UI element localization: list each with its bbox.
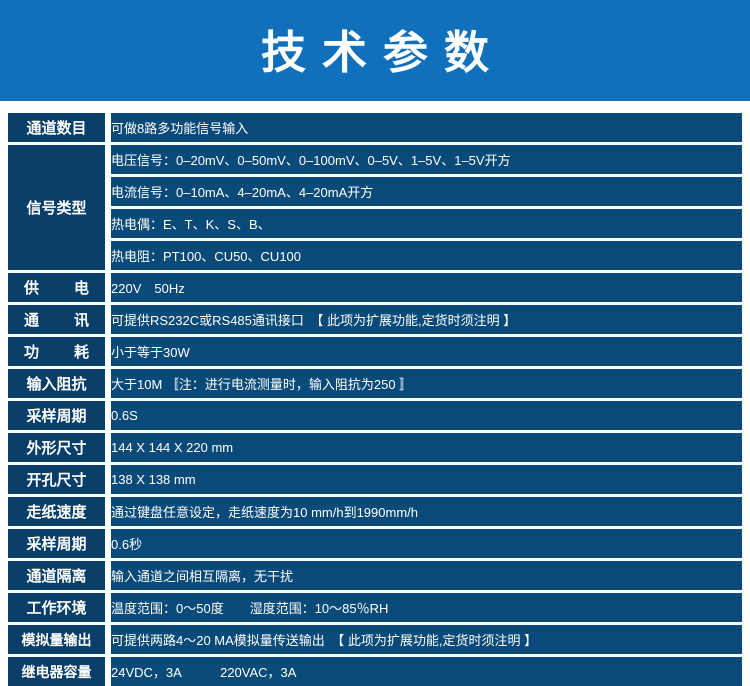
row-label-communication-text: 通 讯 — [8, 309, 105, 330]
row-value-signal-rtd: 热电阻：PT100、CU50、CU100 — [111, 241, 742, 273]
page-banner: 技术参数 — [0, 0, 750, 101]
row-value-relay-capacity: 24VDC，3A 220VAC，3A — [111, 657, 742, 686]
row-label-relay-capacity: 继电器容量 — [8, 657, 111, 686]
row-value-outline-dimension: 144 X 144 X 220 mm — [111, 433, 742, 465]
row-value-signal-voltage: 电压信号：0–20mV、0–50mV、0–100mV、0–5V、1–5V、1–5… — [111, 145, 742, 177]
row-value-signal-thermocouple: 热电偶：E、T、K、S、B、 — [111, 209, 742, 241]
row-value-sampling-period-2: 0.6秒 — [111, 529, 742, 561]
row-label-outline-dimension: 外形尺寸 — [8, 433, 111, 465]
page-title: 技术参数 — [245, 26, 505, 75]
row-label-power-supply: 供 电 — [8, 273, 111, 305]
row-label-working-environment: 工作环境 — [8, 593, 111, 625]
table-row: 通道数目 可做8路多功能信号输入 — [8, 113, 742, 145]
label-char-a: 功 — [24, 341, 39, 362]
row-value-power-supply: 220V 50Hz — [111, 273, 742, 305]
table-row: 热电阻：PT100、CU50、CU100 — [8, 241, 742, 273]
table-row: 开孔尺寸 138 X 138 mm — [8, 465, 742, 497]
label-char-b: 讯 — [74, 309, 89, 330]
row-label-power-supply-text: 供 电 — [8, 277, 105, 298]
row-label-analog-output: 模拟量输出 — [8, 625, 111, 657]
row-label-input-impedance: 输入阻抗 — [8, 369, 111, 401]
row-label-cutout-dimension: 开孔尺寸 — [8, 465, 111, 497]
label-char-a: 供 — [24, 277, 39, 298]
row-label-power-consumption-text: 功 耗 — [8, 341, 105, 362]
row-label-sampling-period-1: 采样周期 — [8, 401, 111, 433]
row-label-communication: 通 讯 — [8, 305, 111, 337]
row-value-communication: 可提供RS232C或RS485通讯接口 【 此项为扩展功能,定货时须注明 】 — [111, 305, 742, 337]
row-value-sampling-period-1: 0.6S — [111, 401, 742, 433]
row-label-channel-isolation: 通道隔离 — [8, 561, 111, 593]
table-row: 继电器容量 24VDC，3A 220VAC，3A — [8, 657, 742, 686]
table-row: 通道隔离 输入通道之间相互隔离，无干扰 — [8, 561, 742, 593]
table-row: 采样周期 0.6秒 — [8, 529, 742, 561]
table-row: 采样周期 0.6S — [8, 401, 742, 433]
row-value-working-environment: 温度范围：0～50度 湿度范围：10～85％RH — [111, 593, 742, 625]
table-row: 热电偶：E、T、K、S、B、 — [8, 209, 742, 241]
table-row: 通 讯 可提供RS232C或RS485通讯接口 【 此项为扩展功能,定货时须注明… — [8, 305, 742, 337]
label-char-b: 耗 — [74, 341, 89, 362]
table-row: 外形尺寸 144 X 144 X 220 mm — [8, 433, 742, 465]
row-label-signal-type: 信号类型 — [8, 145, 111, 273]
spec-table: 通道数目 可做8路多功能信号输入 信号类型 电压信号：0–20mV、0–50mV… — [8, 113, 742, 686]
table-row: 输入阻抗 大于10M 〚注：进行电流测量时，输入阻抗为250 〛 — [8, 369, 742, 401]
label-char-a: 通 — [24, 309, 39, 330]
row-value-power-consumption: 小于等于30W — [111, 337, 742, 369]
row-label-paper-speed: 走纸速度 — [8, 497, 111, 529]
table-row: 信号类型 电压信号：0–20mV、0–50mV、0–100mV、0–5V、1–5… — [8, 145, 742, 177]
row-label-power-consumption: 功 耗 — [8, 337, 111, 369]
table-row: 走纸速度 通过键盘任意设定，走纸速度为10 mm/h到1990mm/h — [8, 497, 742, 529]
table-row: 模拟量输出 可提供两路4～20 MA模拟量传送输出 【 此项为扩展功能,定货时须… — [8, 625, 742, 657]
row-value-channel-count: 可做8路多功能信号输入 — [111, 113, 742, 145]
table-row: 工作环境 温度范围：0～50度 湿度范围：10～85％RH — [8, 593, 742, 625]
row-value-analog-output: 可提供两路4～20 MA模拟量传送输出 【 此项为扩展功能,定货时须注明 】 — [111, 625, 742, 657]
label-char-b: 电 — [74, 277, 89, 298]
row-label-sampling-period-2: 采样周期 — [8, 529, 111, 561]
table-row: 功 耗 小于等于30W — [8, 337, 742, 369]
row-value-cutout-dimension: 138 X 138 mm — [111, 465, 742, 497]
row-value-paper-speed: 通过键盘任意设定，走纸速度为10 mm/h到1990mm/h — [111, 497, 742, 529]
row-value-channel-isolation: 输入通道之间相互隔离，无干扰 — [111, 561, 742, 593]
row-label-channel-count: 通道数目 — [8, 113, 111, 145]
table-row: 供 电 220V 50Hz — [8, 273, 742, 305]
table-row: 电流信号：0–10mA、4–20mA、4–20mA开方 — [8, 177, 742, 209]
row-value-signal-current: 电流信号：0–10mA、4–20mA、4–20mA开方 — [111, 177, 742, 209]
row-value-input-impedance: 大于10M 〚注：进行电流测量时，输入阻抗为250 〛 — [111, 369, 742, 401]
